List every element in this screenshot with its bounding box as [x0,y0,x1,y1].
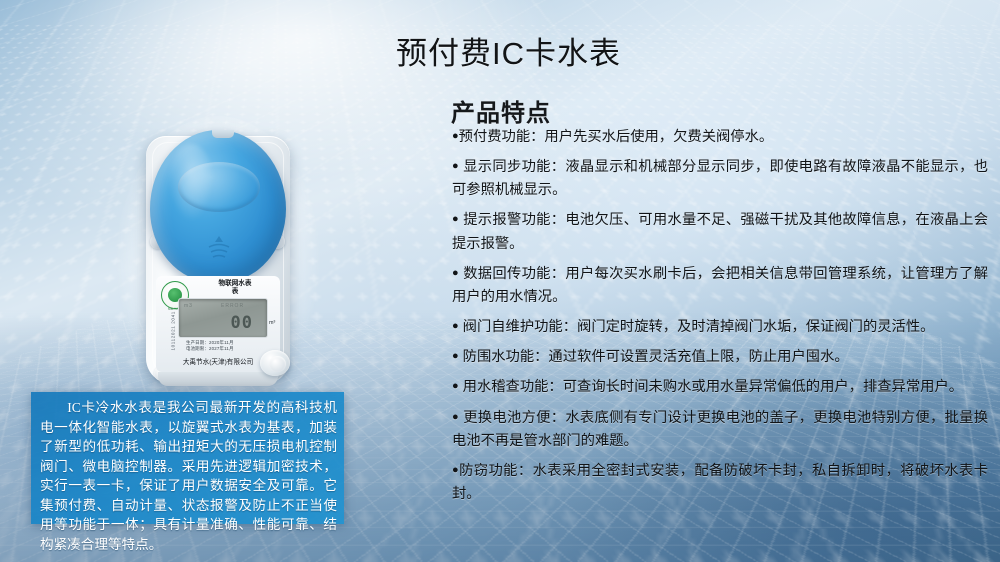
feature-item: ●更换电池方便：水表底侧有专门设计更换电池的盖子，更换电池特别方便，批量换电池不… [452,407,988,453]
meter-name-label: 物联网水表表 [196,280,274,296]
meter-face-label: NB-IoT 物联网水表表 10112021 2041 m3 ERROR 00 … [156,276,280,372]
feature-text: 显示同步功能：液晶显示和机械部分显示同步，即使电路有故障液晶不能显示，也可参照机… [452,159,988,198]
bullet-icon: ● [452,267,459,279]
meter-serial-number: 10112021 2041 [171,299,176,351]
feature-item: ●数据回传功能：用户每次买水刷卡后，会把相关信息带回管理系统，让管理方了解用户的… [452,263,988,309]
lcd-display: m3 ERROR 00 [178,298,268,338]
bullet-icon: ● [452,464,459,476]
feature-item: ●防窃功能：水表采用全密封式安装，配备防破坏卡封，私自拆卸时，将破坏水表卡封。 [452,460,988,506]
meter-blue-cap [150,130,286,282]
bullet-icon: ● [452,130,459,142]
feature-item: ●防围水功能：通过软件可设置灵活充值上限，防止用户囤水。 [452,346,988,369]
page-title: 预付费IC卡水表 [396,28,621,73]
bullet-icon: ● [452,380,459,392]
description-text: IC卡冷水水表是我公司最新开发的高科技机电一体化智能水表，以旋翼式水表为基表，加… [40,398,337,555]
background-dot-mesh [0,0,1000,24]
feature-item: ●阀门自维护功能：阀门定时旋转，及时清掉阀门水垢，保证阀门的灵活性。 [452,316,988,339]
lcd-unit-label: m³ [269,320,275,326]
feature-text: 阀门自维护功能：阀门定时旋转，及时清掉阀门水垢，保证阀门的灵活性。 [463,319,935,335]
feature-item: ●提示报警功能：电池欠压、可用水量不足、强磁干扰及其他故障信息，在液晶上会提示报… [452,209,988,255]
bullet-icon: ● [452,213,459,225]
lcd-faint-left: m3 [184,303,193,309]
bullet-icon: ● [452,160,459,172]
bullet-icon: ● [452,320,459,332]
battery-cover-knob [260,350,290,376]
feature-text: 防窃功能：水表采用全密封式安装，配备防破坏卡封，私自拆卸时，将破坏水表卡封。 [452,463,988,502]
cap-oval-emboss [178,162,260,212]
battery-expiry-date: 电池期限：2027年11月 [186,346,234,352]
lcd-reading: 00 [231,315,253,332]
meter-base [158,372,278,386]
feature-text: 预付费功能：用户先买水后使用，欠费关阀停水。 [459,129,774,145]
water-wave-icon [202,234,236,260]
feature-item: ●预付费功能：用户先买水后使用，欠费关阀停水。 [452,126,988,149]
cap-notch [212,130,234,138]
features-list: ●预付费功能：用户先买水后使用，欠费关阀停水。 ●显示同步功能：液晶显示和机械部… [452,126,988,513]
slide-canvas: 预付费IC卡水表 产品特点 ●预付费功能：用户先买水后使用，欠费关阀停水。 ●显… [0,0,1000,562]
bullet-icon: ● [452,350,459,362]
feature-text: 数据回传功能：用户每次买水刷卡后，会把相关信息带回管理系统，让管理方了解用户的用… [452,266,988,305]
feature-text: 防围水功能：通过软件可设置灵活充值上限，防止用户囤水。 [463,349,849,365]
feature-text: 用水稽查功能：可查询长时间未购水或用水量异常偏低的用户，排查异常用户。 [463,379,963,395]
feature-text: 更换电池方便：水表底侧有专门设计更换电池的盖子，更换电池特别方便，批量换电池不再… [452,410,988,449]
product-photo-water-meter: NB-IoT 物联网水表表 10112021 2041 m3 ERROR 00 … [132,126,302,392]
feature-item: ●用水稽查功能：可查询长时间未购水或用水量异常偏低的用户，排查异常用户。 [452,376,988,399]
company-name: 大禹节水(天津)有限公司 [162,356,274,366]
feature-text: 提示报警功能：电池欠压、可用水量不足、强磁干扰及其他故障信息，在液晶上会提示报警… [452,212,988,251]
bullet-icon: ● [452,411,459,423]
description-panel: IC卡冷水水表是我公司最新开发的高科技机电一体化智能水表，以旋翼式水表为基表，加… [31,392,344,524]
features-heading: 产品特点 [451,93,551,128]
lcd-faint-right: ERROR [221,303,244,309]
feature-item: ●显示同步功能：液晶显示和机械部分显示同步，即使电路有故障液晶不能显示，也可参照… [452,156,988,202]
